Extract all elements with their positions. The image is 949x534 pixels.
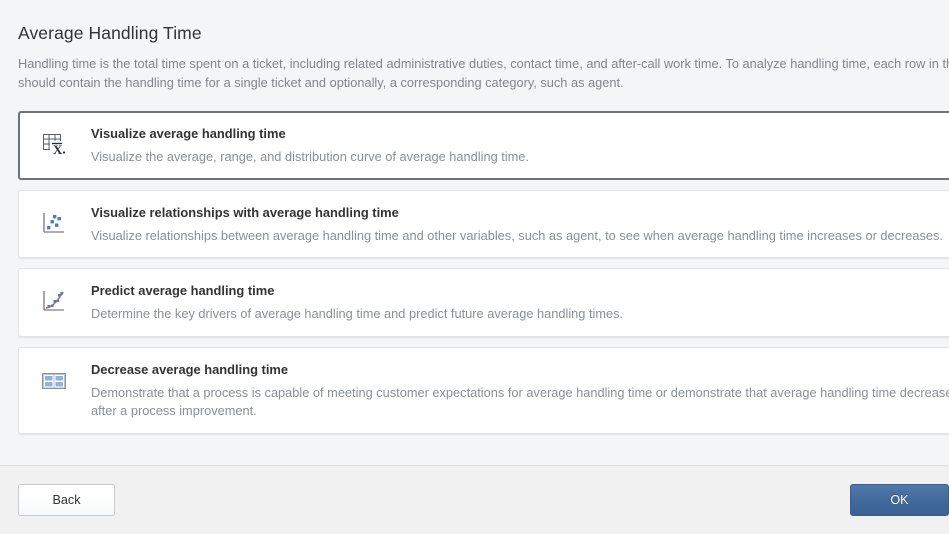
dialog-header: Average Handling Time Handling time is t… <box>0 0 949 92</box>
option-title: Predict average handling time <box>91 282 949 299</box>
option-title: Visualize relationships with average han… <box>91 204 949 221</box>
scatterplot-icon <box>37 207 71 241</box>
option-card-visualize-relationships[interactable]: Visualize relationships with average han… <box>18 190 949 259</box>
page-description: Handling time is the total time spent on… <box>18 55 949 92</box>
table-xbar-icon: X <box>37 128 71 162</box>
ok-button[interactable]: OK <box>850 484 949 516</box>
fitted-line-plot-icon <box>37 285 71 319</box>
page-title: Average Handling Time <box>18 22 949 44</box>
option-card-decrease-average-handling-time[interactable]: Decrease average handling time Demonstra… <box>18 347 949 434</box>
option-card-visualize-average-handling-time[interactable]: X Visualize average handling time Visual… <box>18 111 949 180</box>
option-description: Visualize the average, range, and distri… <box>91 148 949 167</box>
option-title: Decrease average handling time <box>91 361 949 378</box>
option-text: Decrease average handling time Demonstra… <box>91 359 949 421</box>
option-text: Visualize relationships with average han… <box>91 202 949 246</box>
option-card-predict-average-handling-time[interactable]: Predict average handling time Determine … <box>18 268 949 337</box>
dialog-footer: Back OK Cancel <box>0 465 949 534</box>
average-handling-time-dialog: Average Handling Time Handling time is t… <box>0 0 949 534</box>
capability-grid-icon <box>37 364 71 398</box>
footer-right-actions: OK Cancel <box>850 484 949 516</box>
option-title: Visualize average handling time <box>91 125 949 142</box>
option-text: Visualize average handling time Visualiz… <box>91 123 949 167</box>
option-description: Demonstrate that a process is capable of… <box>91 384 949 421</box>
option-description: Visualize relationships between average … <box>91 227 949 246</box>
option-list: X Visualize average handling time Visual… <box>0 92 949 465</box>
svg-text:X: X <box>53 142 63 157</box>
option-text: Predict average handling time Determine … <box>91 280 949 324</box>
footer-left-actions: Back <box>18 484 115 516</box>
option-description: Determine the key drivers of average han… <box>91 305 949 324</box>
back-button[interactable]: Back <box>18 484 115 516</box>
